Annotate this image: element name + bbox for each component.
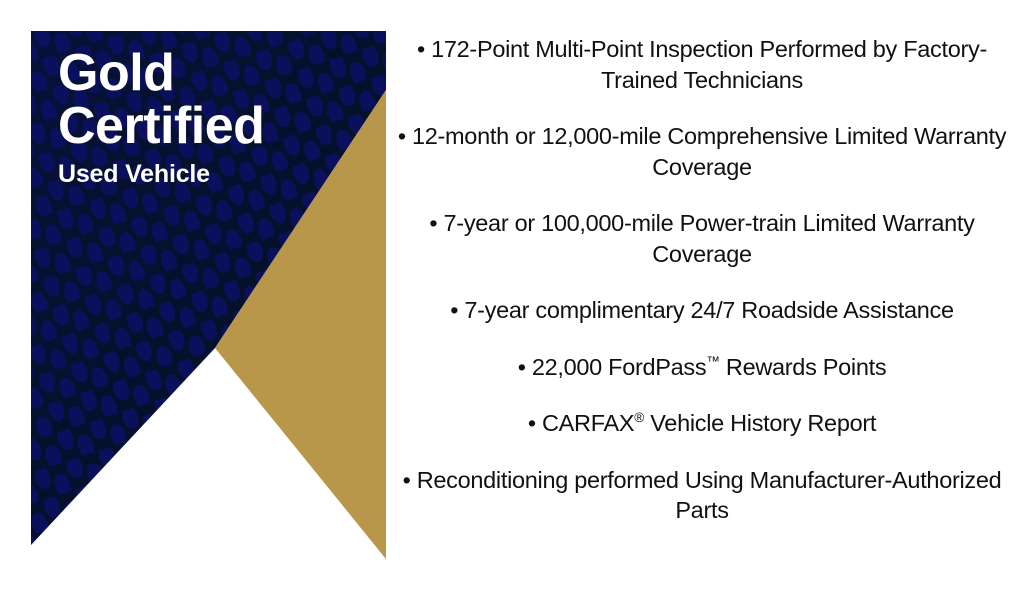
- feature-item-roadside-assistance: • 7-year complimentary 24/7 Roadside Ass…: [392, 295, 1012, 326]
- carfax-prefix: • CARFAX: [528, 410, 634, 436]
- feature-item-comprehensive-warranty: • 12-month or 12,000-mile Comprehensive …: [392, 121, 1012, 182]
- feature-item-inspection: • 172-Point Multi-Point Inspection Perfo…: [392, 34, 1012, 95]
- feature-list: • 172-Point Multi-Point Inspection Perfo…: [392, 34, 1012, 564]
- feature-item-carfax-report: • CARFAX® Vehicle History Report: [392, 408, 1012, 439]
- badge-ribbon-shape: [31, 31, 386, 559]
- registered-trademark-icon: ®: [634, 411, 644, 426]
- certified-vehicle-graphic: Gold Certified Used Vehicle • 172-Point …: [0, 0, 1024, 598]
- gold-certified-badge: Gold Certified Used Vehicle: [31, 31, 386, 559]
- trademark-icon: ™: [706, 354, 719, 369]
- carfax-suffix: Vehicle History Report: [644, 410, 876, 436]
- feature-item-powertrain-warranty: • 7-year or 100,000-mile Power-train Lim…: [392, 208, 1012, 269]
- feature-item-fordpass-rewards: • 22,000 FordPass™ Rewards Points: [392, 352, 1012, 383]
- fordpass-prefix: • 22,000 FordPass: [518, 354, 707, 380]
- fordpass-suffix: Rewards Points: [720, 354, 887, 380]
- feature-item-reconditioning: • Reconditioning performed Using Manufac…: [392, 465, 1012, 526]
